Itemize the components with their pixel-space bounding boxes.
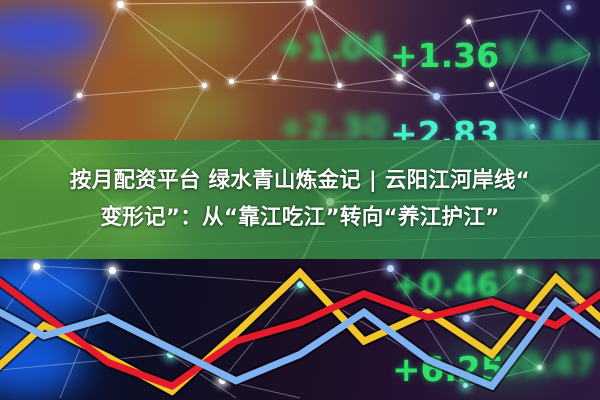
headline-band: 按月配资平台 绿水青山炼金记 | 云阳江河岸线“ 变形记”：从“靠江吃江”转向“… [0,140,600,259]
network-node [202,83,207,88]
headline-line-2: 变形记”：从“靠江吃江”转向“养江护江” [4,203,596,233]
network-node [566,5,571,10]
headline-line-1: 按月配资平台 绿水青山炼金记 | 云阳江河岸线“ [4,166,596,196]
ticker-value: 55.06 M [498,36,600,70]
chart-svg [0,258,600,400]
network-node [396,74,403,81]
network-node [272,75,277,80]
ticker-value: 39.84 M [498,116,600,142]
network-node [77,93,82,98]
ticker-value: +2.83 [390,114,499,142]
chart-line-gold [0,273,600,392]
top-market-board: +1.04 +1.36 55.06 M +2.30 +2.83 39.84 M [0,0,600,142]
ticker-value: +2.30 [278,108,387,142]
network-node [489,82,494,87]
network-node [433,93,440,100]
network-node [466,19,471,24]
ticker-value: +1.36 [390,36,499,75]
headline-network-decor [0,140,600,259]
banner-image: +1.04 +1.36 55.06 M +2.30 +2.83 39.84 M [0,0,600,400]
network-node [117,1,124,8]
network-node [229,79,234,84]
network-node [337,83,342,88]
stock-line-chart [0,258,600,400]
ticker-value: +1.04 [278,28,387,67]
